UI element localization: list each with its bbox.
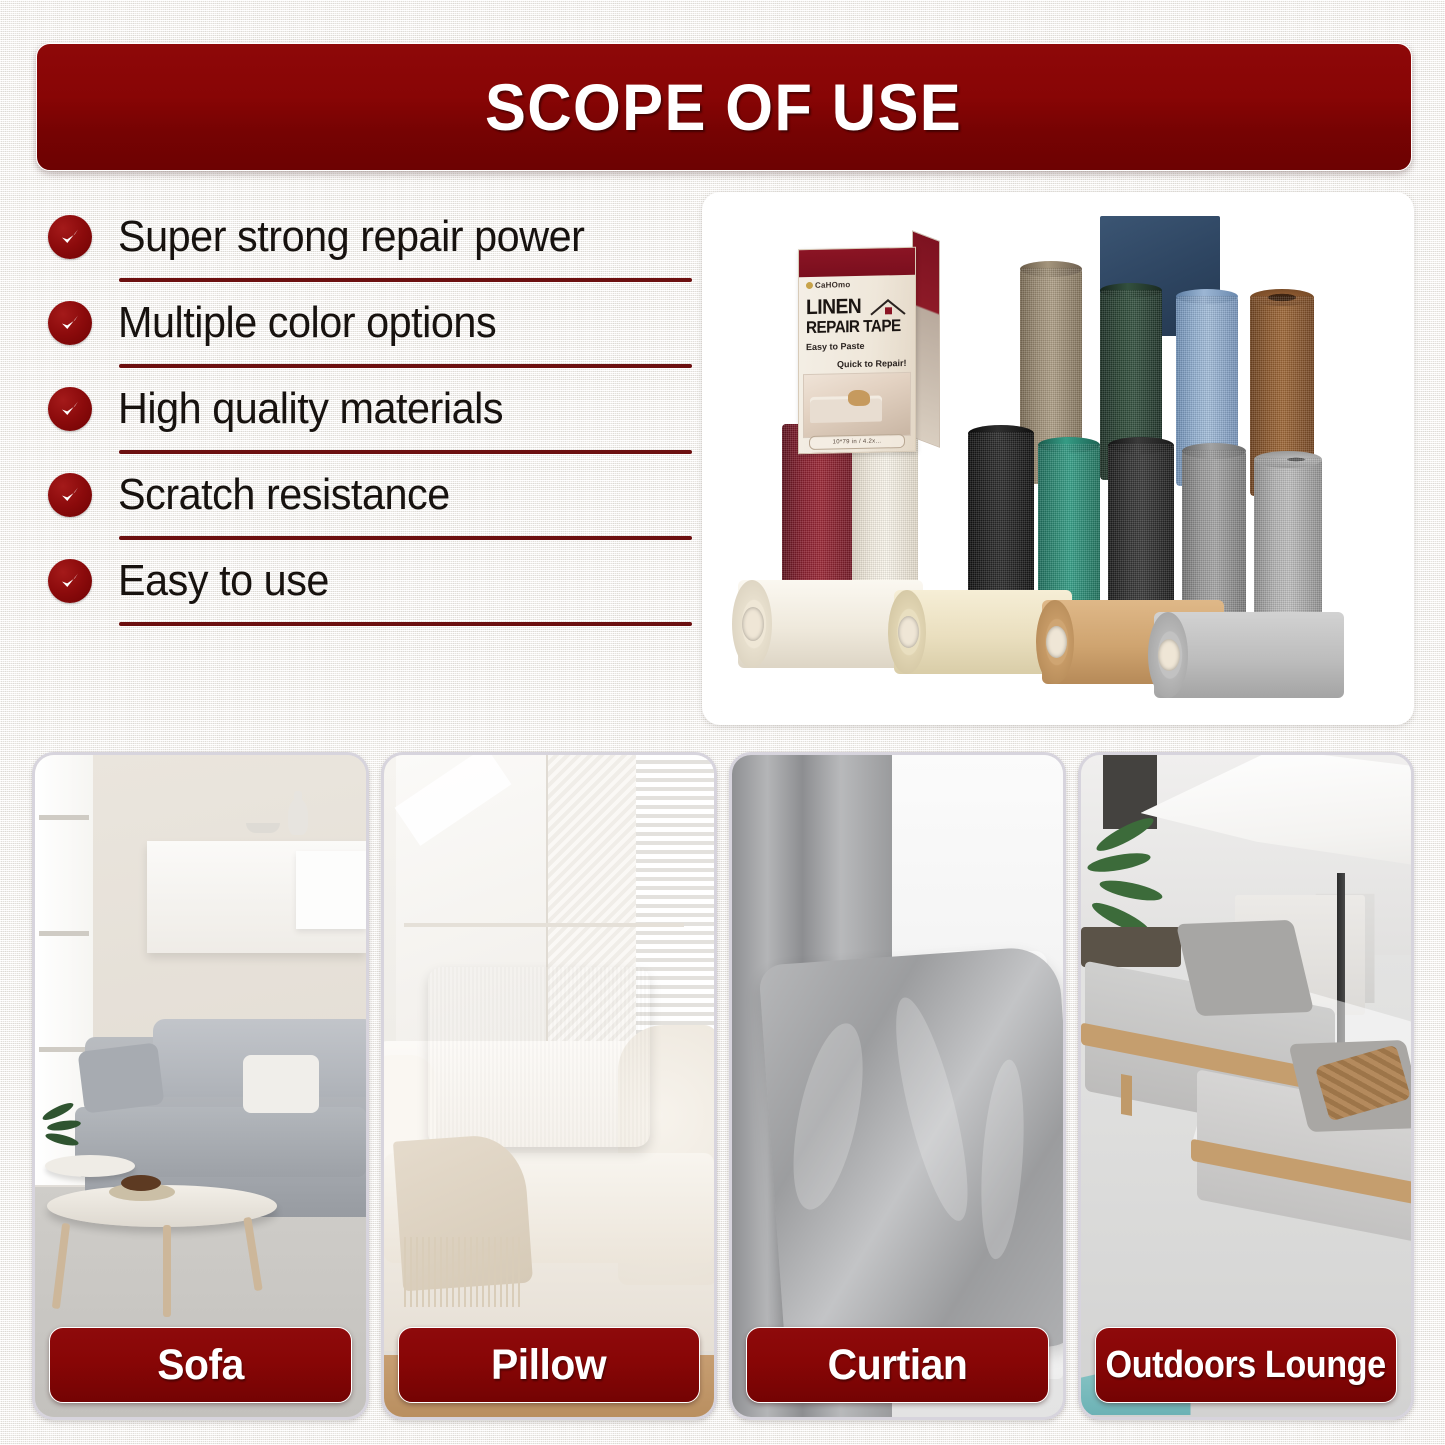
- window-bar: [39, 931, 89, 936]
- package-lifestyle-photo: [803, 372, 911, 438]
- house-icon: [869, 296, 907, 319]
- panel-label-text: Pillow: [491, 1341, 606, 1390]
- use-case-panel-pillow[interactable]: Pillow: [381, 752, 718, 1420]
- door-mullion: [404, 923, 684, 927]
- roll-core-hole: [742, 607, 764, 641]
- window-bar: [39, 815, 89, 820]
- package-top-band: [799, 248, 915, 277]
- tape-roll-lying-grey: [1154, 612, 1344, 698]
- decor-vase: [288, 799, 308, 835]
- table-leg: [163, 1225, 171, 1317]
- white-cushion: [243, 1055, 319, 1113]
- feature-item: Scratch resistance: [44, 454, 692, 536]
- lounger-backrest: [1175, 920, 1313, 1016]
- product-photo: CaHOmo LINEN REPAIR TAPE Easy to Paste Q…: [702, 192, 1414, 725]
- feature-list: Super strong repair power Multiple color…: [44, 196, 692, 626]
- panel-label-text: Curtian: [827, 1341, 967, 1390]
- product-image-card: CaHOmo LINEN REPAIR TAPE Easy to Paste Q…: [702, 192, 1414, 725]
- package-photo-sofa: [810, 395, 882, 423]
- check-circle-icon: [48, 215, 92, 259]
- use-case-panel-curtain[interactable]: Curtian: [729, 752, 1066, 1420]
- header-banner: SCOPE OF USE: [36, 43, 1412, 171]
- check-circle-icon: [48, 387, 92, 431]
- feature-item: Multiple color options: [44, 282, 692, 364]
- feature-item: Super strong repair power: [44, 196, 692, 278]
- throw-fringe: [404, 1237, 524, 1307]
- logo-dot-icon: [806, 282, 813, 289]
- package-spec-text: 10*79 in / 4.2x...: [833, 438, 882, 445]
- panel-label-pillow: Pillow: [398, 1327, 701, 1403]
- decor-pinecone: [121, 1175, 161, 1191]
- draped-fabric: [758, 945, 1065, 1365]
- feature-label: Scratch resistance: [118, 470, 450, 520]
- feature-label: Easy to use: [118, 556, 329, 606]
- roll-core-hole: [1158, 639, 1180, 671]
- check-circle-icon: [48, 473, 92, 517]
- banana-plant: [1083, 821, 1193, 941]
- package-front-panel: CaHOmo LINEN REPAIR TAPE Easy to Paste Q…: [798, 247, 916, 454]
- package-title-line2: REPAIR TAPE: [806, 316, 901, 338]
- package-tagline-1: Easy to Paste: [806, 341, 865, 352]
- panel-label-outdoors-lounge: Outdoors Lounge: [1095, 1327, 1398, 1403]
- panel-label-text: Sofa: [157, 1341, 244, 1390]
- package-tagline-2: Quick to Repair!: [837, 358, 907, 369]
- scene-living-room: [35, 755, 366, 1417]
- use-case-panel-sofa[interactable]: Sofa: [32, 752, 369, 1420]
- package-photo-dog: [848, 390, 870, 406]
- feature-label: Super strong repair power: [118, 212, 584, 262]
- brand-logo: CaHOmo: [806, 280, 850, 290]
- potted-plant: [41, 1099, 101, 1153]
- window-bar: [39, 1047, 89, 1052]
- scene-curtain: [732, 755, 1063, 1417]
- package-side-panel: [912, 230, 940, 448]
- scene-pillow-chair: [384, 755, 715, 1417]
- roll-core-hole: [1046, 626, 1067, 658]
- check-circle-icon: [48, 559, 92, 603]
- panel-label-sofa: Sofa: [49, 1327, 352, 1403]
- feature-label: High quality materials: [118, 384, 503, 434]
- side-table: [45, 1155, 135, 1177]
- brand-name: CaHOmo: [815, 280, 850, 290]
- page-title: SCOPE OF USE: [485, 69, 962, 145]
- feature-label: Multiple color options: [118, 298, 496, 348]
- package-spec-badge: 10*79 in / 4.2x...: [809, 434, 905, 450]
- roll-core-hole: [898, 616, 919, 648]
- product-package-box: CaHOmo LINEN REPAIR TAPE Easy to Paste Q…: [798, 247, 916, 454]
- lounger-leg: [1121, 1074, 1132, 1116]
- feature-item: High quality materials: [44, 368, 692, 450]
- feature-item: Easy to use: [44, 540, 692, 622]
- panel-label-curtain: Curtian: [746, 1327, 1049, 1403]
- decor-bowl: [246, 823, 280, 833]
- use-case-panel-outdoors-lounge[interactable]: Outdoors Lounge: [1078, 752, 1415, 1420]
- scene-poolside-lounge: [1081, 755, 1412, 1417]
- white-pillow: [428, 967, 650, 1147]
- check-circle-icon: [48, 301, 92, 345]
- use-case-panels: Sofa Pillow: [32, 752, 1414, 1420]
- wall-shelf: [296, 851, 366, 929]
- feature-divider: [119, 622, 692, 626]
- planter-soil: [1081, 927, 1181, 967]
- panel-label-text: Outdoors Lounge: [1106, 1344, 1386, 1387]
